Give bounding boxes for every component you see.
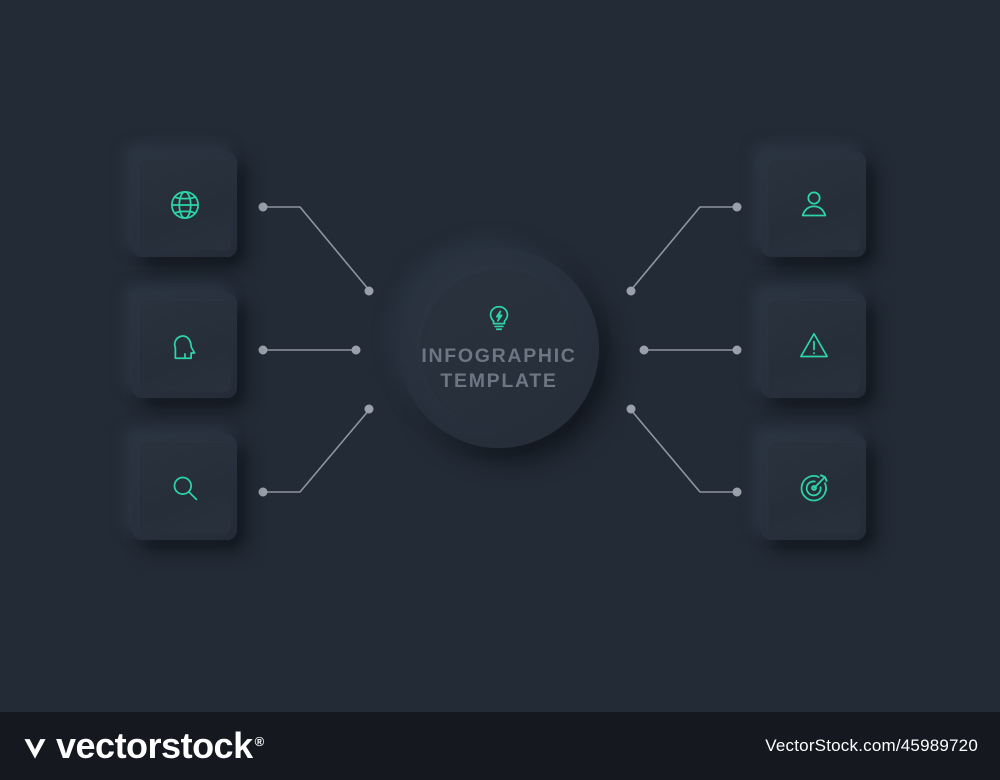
vectorstock-logo: vectorstock ® xyxy=(22,725,264,767)
footer-url: VectorStock.com/45989720 xyxy=(765,736,978,756)
hub-title-line1: INFOGRAPHIC xyxy=(421,344,576,369)
infographic-canvas: INFOGRAPHIC TEMPLATE xyxy=(0,0,1000,712)
registered-mark: ® xyxy=(255,734,264,749)
vectorstock-mark-icon xyxy=(22,735,48,761)
brand-name: vectorstock xyxy=(56,725,253,767)
magnifier-icon xyxy=(164,467,206,509)
globe-icon xyxy=(164,184,206,226)
card-user[interactable] xyxy=(761,152,866,257)
card-target[interactable] xyxy=(761,435,866,540)
head-profile-icon xyxy=(164,325,206,367)
hub-title-line2: TEMPLATE xyxy=(421,369,576,394)
card-warning[interactable] xyxy=(761,293,866,398)
card-head-profile[interactable] xyxy=(132,293,237,398)
user-icon xyxy=(793,184,835,226)
warning-triangle-icon xyxy=(793,325,835,367)
hub-title: INFOGRAPHIC TEMPLATE xyxy=(421,344,576,394)
hub-content: INFOGRAPHIC TEMPLATE xyxy=(421,303,576,394)
central-hub[interactable]: INFOGRAPHIC TEMPLATE xyxy=(399,248,599,448)
watermark-bar: vectorstock ® VectorStock.com/45989720 xyxy=(0,712,1000,780)
target-arrow-icon xyxy=(793,467,835,509)
lightbulb-bolt-icon xyxy=(484,303,514,333)
screenshot-root: INFOGRAPHIC TEMPLATE vectorstock ® Vecto… xyxy=(0,0,1000,780)
card-search[interactable] xyxy=(132,435,237,540)
card-globe[interactable] xyxy=(132,152,237,257)
